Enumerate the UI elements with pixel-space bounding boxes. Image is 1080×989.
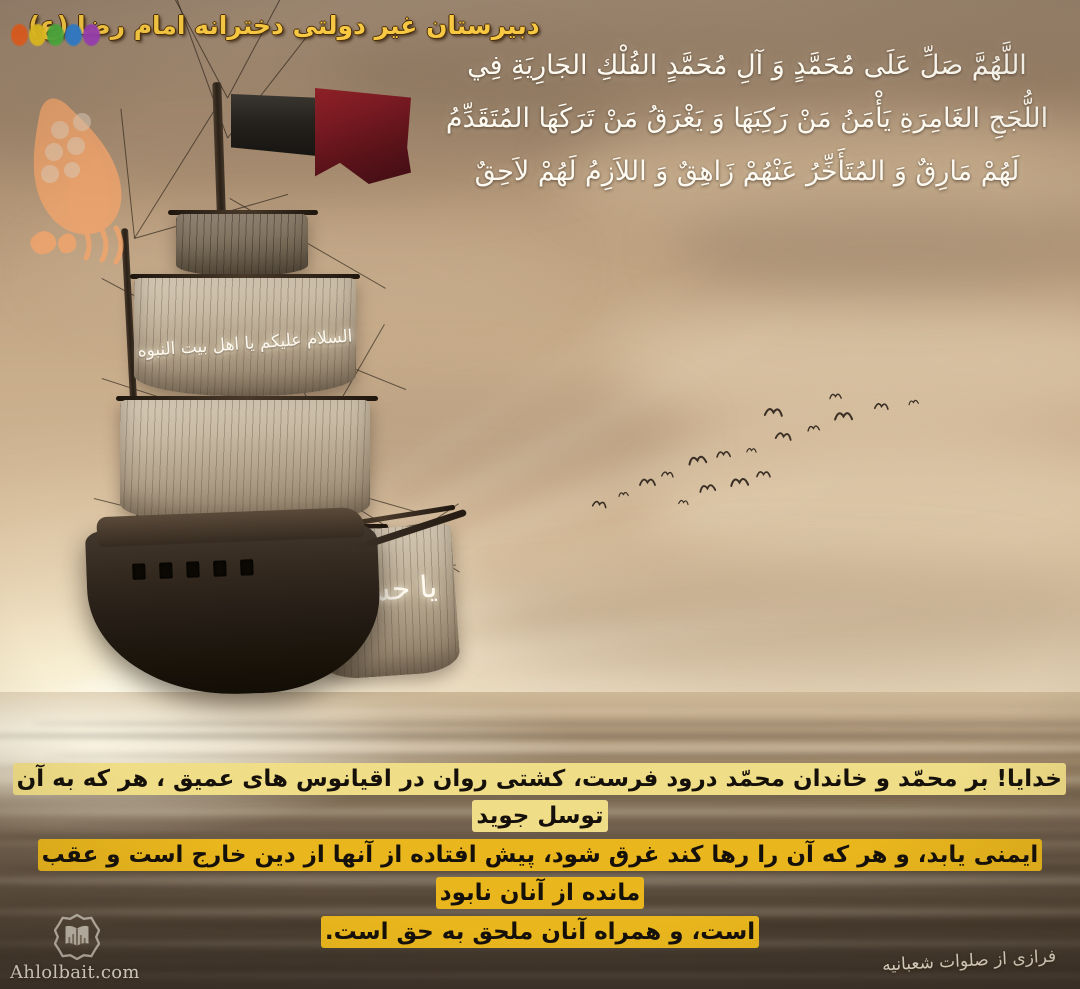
wave-band [0, 974, 1080, 977]
site-watermark: Ahlolbait.com [8, 914, 158, 983]
flag-red [315, 88, 411, 184]
open-book-icon [54, 914, 100, 960]
translation-line-3: است، و همراه آنان ملحق به حق است. [14, 914, 1066, 951]
persian-translation-block: خدایا! بر محمّد و خاندان محمّد درود فرست… [0, 761, 1080, 953]
calligraphy-line-2: اللُّجَجِ الغَامِرَةِ يَأْمَنُ مَنْ رَكِ… [432, 105, 1062, 132]
translation-line-1-text: خدایا! بر محمّد و خاندان محمّد درود فرست… [13, 763, 1066, 832]
sail-main-mid [120, 400, 370, 526]
colored-dots-graphic [8, 22, 100, 48]
flag-black [231, 94, 317, 156]
watermark-site-text: Ahlolbait.com [8, 962, 158, 983]
translation-line-3-text: است، و همراه آنان ملحق به حق است. [321, 916, 759, 948]
arabic-calligraphy-block: اللَّهُمَّ صَلِّ عَلَى مُحَمَّدٍ وَ آلِ … [432, 52, 1062, 211]
devotional-poster: السلام علیکم یا اهل بیت النبوه یا حسین د… [0, 0, 1080, 989]
school-logo [16, 60, 144, 290]
sail-salutation-text: السلام علیکم یا اهل بیت النبوه [134, 326, 357, 361]
translation-line-2-text: ایمنی یابد، و هر که آن را رها کند غرق شو… [38, 839, 1043, 908]
calligraphy-line-1: اللَّهُمَّ صَلِّ عَلَى مُحَمَّدٍ وَ آلِ … [432, 52, 1062, 79]
dot-orange [11, 24, 28, 46]
gun-ports [132, 559, 254, 580]
calligraphy-line-3: لَهُمْ مَارِقٌ وَ المُتَأَخِّرُ عَنْهُمْ… [432, 158, 1062, 185]
translation-line-2: ایمنی یابد، و هر که آن را رها کند غرق شو… [14, 837, 1066, 912]
dot-blue [65, 24, 82, 46]
translation-line-1: خدایا! بر محمّد و خاندان محمّد درود فرست… [14, 761, 1066, 836]
dot-yellow [29, 24, 46, 46]
sail-main-upper: السلام علیکم یا اهل بیت النبوه [134, 278, 356, 396]
wave-band [0, 985, 1080, 989]
dot-purple [83, 24, 100, 46]
sail-topsail [176, 214, 308, 276]
wave-band [0, 743, 1080, 754]
dot-green [47, 24, 64, 46]
